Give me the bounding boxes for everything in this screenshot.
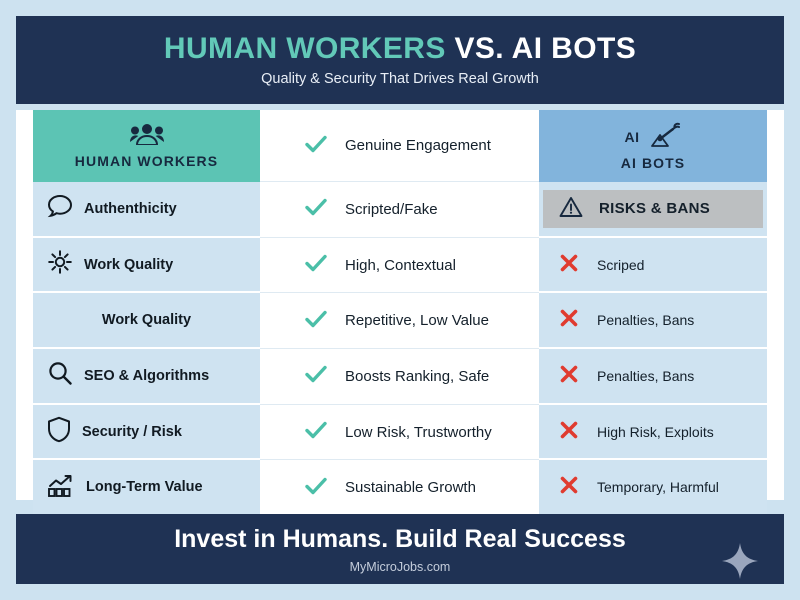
row-4-middle-cell: Low Risk, Trustworthy <box>260 405 539 461</box>
risks-bans-highlight: RISKS & BANS <box>543 190 763 228</box>
row-1-middle-label: High, Contextual <box>345 257 456 274</box>
row-5-left-label: Long-Term Value <box>86 479 203 495</box>
footer-website: MyMicroJobs.com <box>350 560 451 574</box>
ai-bots-header-label: AI BOTS <box>621 155 685 171</box>
row-5-right-cell: Temporary, Harmful <box>539 460 767 516</box>
row-2-right-cell: Penalties, Bans <box>539 293 767 349</box>
magnifier-icon <box>47 360 73 391</box>
row-1-right-cell: Scriped <box>539 238 767 294</box>
check-icon <box>305 254 327 276</box>
people-group-icon <box>130 123 164 150</box>
check-icon <box>305 421 327 443</box>
row-3-middle-label: Boosts Ranking, Safe <box>345 368 489 385</box>
row-5-middle-label: Sustainable Growth <box>345 479 476 496</box>
growth-chart-icon <box>47 472 75 503</box>
page-title-accent: HUMAN WORKERS <box>164 32 446 65</box>
footer-title: Invest in Humans. Build Real Success <box>174 525 626 554</box>
header-middle-label: Genuine Engagement <box>345 137 491 154</box>
cross-icon <box>559 420 579 444</box>
warning-triangle-icon <box>559 196 583 222</box>
header-banner: HUMAN WORKERS VS. AI BOTS Quality & Secu… <box>16 16 784 104</box>
check-icon <box>305 198 327 220</box>
robot-arm-icon <box>646 122 682 153</box>
cross-icon <box>559 475 579 499</box>
page-title: HUMAN WORKERS VS. AI BOTS <box>164 33 636 65</box>
sparkle-icon <box>718 541 762 584</box>
row-5-left-cell: Long-Term Value <box>33 460 260 516</box>
check-icon <box>305 135 327 157</box>
ai-bots-icon-group: AI <box>625 122 682 153</box>
row-4-right-label: High Risk, Exploits <box>597 424 714 440</box>
ai-text-label: AI <box>625 129 640 145</box>
footer-banner: Invest in Humans. Build Real Success MyM… <box>16 514 784 584</box>
row-0-middle-label: Scripted/Fake <box>345 201 438 218</box>
cross-icon <box>559 308 579 332</box>
row-0-left-cell: Authenthicity <box>33 182 260 238</box>
row-0-left-label: Authenthicity <box>84 201 177 217</box>
row-3-right-label: Penalties, Bans <box>597 368 694 384</box>
row-4-right-cell: High Risk, Exploits <box>539 405 767 461</box>
row-1-left-cell: Work Quality <box>33 238 260 294</box>
gear-icon <box>47 249 73 280</box>
row-1-right-label: Scriped <box>597 257 644 273</box>
row-2-left-label: Work Quality <box>102 312 191 328</box>
speech-bubble-icon <box>47 194 73 223</box>
row-1-middle-cell: High, Contextual <box>260 238 539 294</box>
row-4-left-cell: Security / Risk <box>33 405 260 461</box>
row-5-right-label: Temporary, Harmful <box>597 479 719 495</box>
table-row: Work Quality High, Contextual Scriped <box>16 238 784 294</box>
table-header-row: HUMAN WORKERS Genuine Engagement AI <box>16 110 784 182</box>
infographic-poster: HUMAN WORKERS VS. AI BOTS Quality & Secu… <box>0 0 800 600</box>
check-icon <box>305 477 327 499</box>
human-workers-header-label: HUMAN WORKERS <box>75 153 218 169</box>
row-2-middle-label: Repetitive, Low Value <box>345 312 489 329</box>
table-row: Authenthicity Scripted/Fake <box>16 182 784 238</box>
table-row: Long-Term Value Sustainable Growth Tempo… <box>16 460 784 516</box>
human-workers-header-cell: HUMAN WORKERS <box>33 110 260 182</box>
row-3-middle-cell: Boosts Ranking, Safe <box>260 349 539 405</box>
row-5-middle-cell: Sustainable Growth <box>260 460 539 516</box>
row-3-right-cell: Penalties, Bans <box>539 349 767 405</box>
table-row: Security / Risk Low Risk, Trustworthy Hi… <box>16 405 784 461</box>
page-title-rest: VS. AI BOTS <box>446 32 636 65</box>
row-2-middle-cell: Repetitive, Low Value <box>260 293 539 349</box>
comparison-table: HUMAN WORKERS Genuine Engagement AI <box>16 110 784 500</box>
page-subtitle: Quality & Security That Drives Real Grow… <box>261 71 539 87</box>
check-icon <box>305 310 327 332</box>
row-4-left-label: Security / Risk <box>82 424 182 440</box>
table-row: SEO & Algorithms Boosts Ranking, Safe Pe… <box>16 349 784 405</box>
row-4-middle-label: Low Risk, Trustworthy <box>345 424 492 441</box>
shield-icon <box>47 416 71 448</box>
header-middle-cell: Genuine Engagement <box>260 110 539 182</box>
cross-icon <box>559 364 579 388</box>
cross-icon <box>559 253 579 277</box>
row-0-right-label: RISKS & BANS <box>599 200 710 217</box>
row-1-left-label: Work Quality <box>84 257 173 273</box>
ai-bots-header-cell: AI AI BOTS <box>539 110 767 182</box>
row-3-left-cell: SEO & Algorithms <box>33 349 260 405</box>
row-0-right-cell: RISKS & BANS <box>539 182 767 238</box>
row-2-right-label: Penalties, Bans <box>597 312 694 328</box>
check-icon <box>305 365 327 387</box>
row-0-middle-cell: Scripted/Fake <box>260 182 539 238</box>
table-row: Work Quality Repetitive, Low Value Penal… <box>16 293 784 349</box>
row-2-left-cell: Work Quality <box>33 293 260 349</box>
row-3-left-label: SEO & Algorithms <box>84 368 209 384</box>
